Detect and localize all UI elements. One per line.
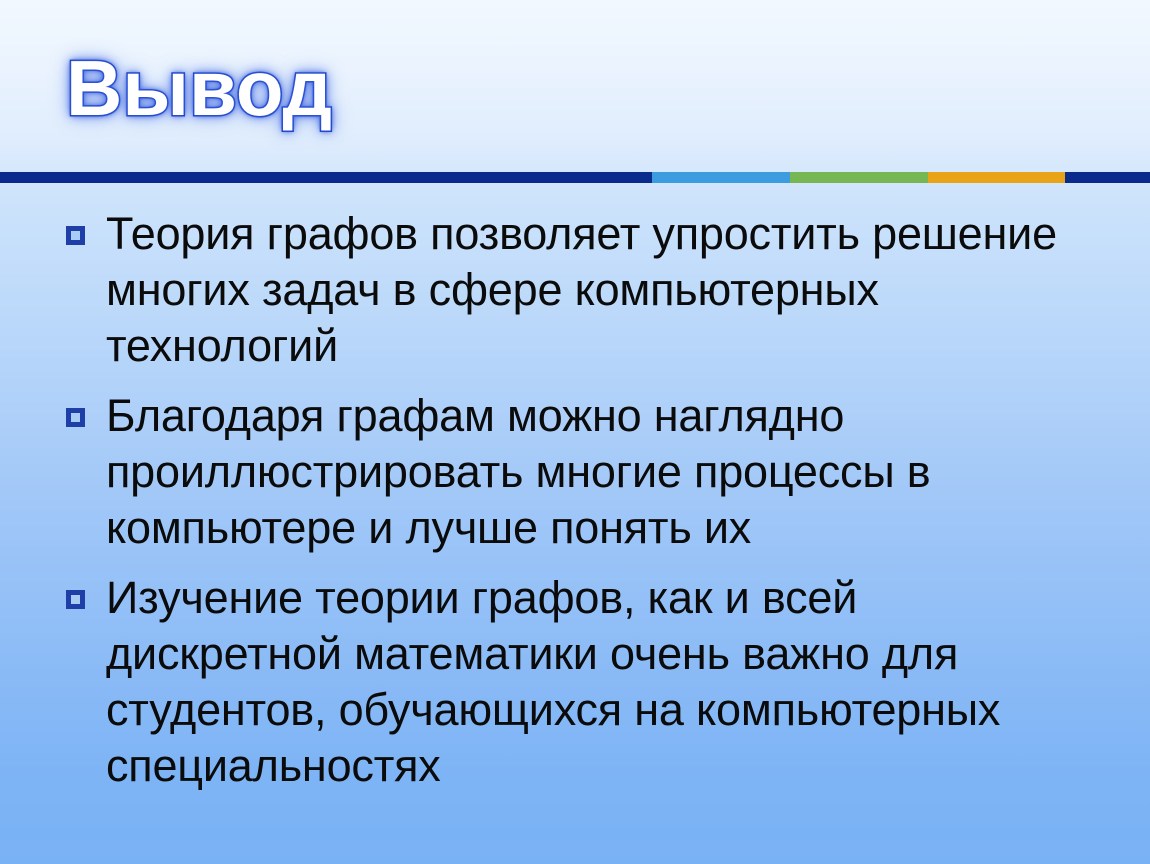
presentation-slide: Вывод Теория графов позволяет упростить … xyxy=(0,0,1150,864)
list-item-text: Изучение теории графов, как и всей дискр… xyxy=(106,570,1096,794)
bullet-list: Теория графов позволяет упростить решени… xyxy=(66,206,1096,808)
list-item: Теория графов позволяет упростить решени… xyxy=(66,206,1096,374)
divider-segment-orange xyxy=(928,172,1065,183)
list-item: Изучение теории графов, как и всей дискр… xyxy=(66,570,1096,794)
square-bullet-icon xyxy=(66,590,85,609)
divider-segment-navy-left xyxy=(0,172,652,183)
divider-bar xyxy=(0,172,1150,183)
list-item-text: Благодаря графам можно наглядно проиллюс… xyxy=(106,388,1096,556)
divider-segment-blue xyxy=(652,172,790,183)
page-title: Вывод xyxy=(66,44,966,132)
divider-segment-green xyxy=(790,172,928,183)
list-item: Благодаря графам можно наглядно проиллюс… xyxy=(66,388,1096,556)
divider-segment-navy-right xyxy=(1065,172,1150,183)
square-bullet-icon xyxy=(66,408,85,427)
list-item-text: Теория графов позволяет упростить решени… xyxy=(106,206,1096,374)
title-block: Вывод xyxy=(66,44,966,149)
square-bullet-icon xyxy=(66,226,85,245)
